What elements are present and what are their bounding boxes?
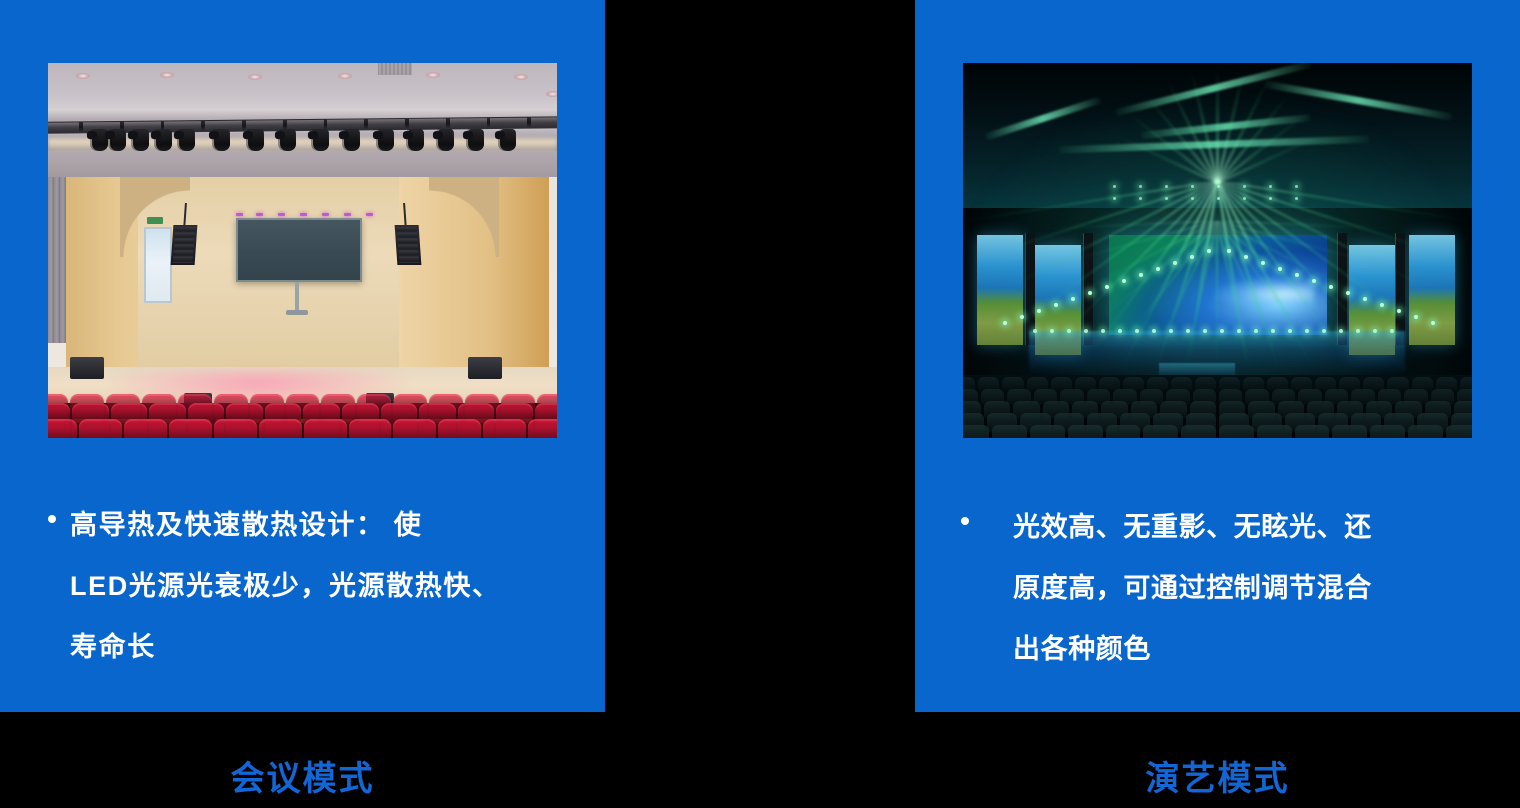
mic-stand <box>295 282 299 312</box>
stage-led-fixture <box>1105 285 1109 289</box>
stage-spotlight <box>344 129 360 151</box>
overhead-led-point <box>1217 197 1220 200</box>
caption-conference-mode: 会议模式 <box>0 750 605 808</box>
concert-scene <box>963 63 1472 438</box>
line-array-speaker-left <box>171 225 198 265</box>
feature-bullet-conference: 高导热及快速散热设计： 使 LED光源光衰极少，光源散热快、 寿命长 <box>48 495 573 678</box>
stage-led-fixture <box>1088 291 1092 295</box>
ceiling-vent <box>378 63 412 75</box>
stage-led-fixture <box>1431 321 1435 325</box>
stage-front-led <box>1288 329 1292 333</box>
stage-led-fixture <box>1156 267 1160 271</box>
stage-spotlight <box>214 129 230 151</box>
stage-spotlight <box>248 129 264 151</box>
stage-led-fixture <box>1139 273 1143 277</box>
stage-front-led <box>1135 329 1139 333</box>
truss-segment <box>531 117 557 127</box>
stage-spotlight <box>156 129 172 151</box>
hall-scene <box>48 63 557 438</box>
slide-root: 高导热及快速散热设计： 使 LED光源光衰极少，光源散热快、 寿命长 <box>0 0 1520 808</box>
ceiling-downlight <box>248 74 262 80</box>
overhead-led-point <box>1139 197 1142 200</box>
wood-curve-right <box>429 177 499 257</box>
stage-front-led <box>1101 329 1105 333</box>
audience-seating <box>48 403 557 438</box>
overhead-led-point <box>1165 185 1168 188</box>
stage-led-fixture <box>1054 303 1058 307</box>
stage-led-fixture <box>1295 273 1299 277</box>
audience-seat <box>1408 425 1443 438</box>
magenta-led-strip <box>236 213 243 216</box>
caption-performance-mode: 演艺模式 <box>915 750 1520 808</box>
stage-front-led <box>1237 329 1241 333</box>
stage-spotlight <box>133 129 149 151</box>
stage-front-led <box>1220 329 1224 333</box>
laser-beam-up <box>1216 69 1219 183</box>
overhead-led-point <box>1243 185 1246 188</box>
stage-led-fixture <box>1227 249 1231 253</box>
stage-front-led <box>1169 329 1173 333</box>
stage-front-led <box>1050 329 1054 333</box>
audience-row <box>963 425 1472 438</box>
stage-front-led <box>1203 329 1207 333</box>
auditorium-hall-photo <box>48 63 557 438</box>
stage-led-fixture <box>1173 261 1177 265</box>
audience-seat <box>1106 425 1141 438</box>
dark-audience-area <box>963 375 1472 438</box>
audience-seat <box>963 425 989 438</box>
theater-seat <box>528 419 557 438</box>
stage-front-led <box>1271 329 1275 333</box>
stage-spotlight <box>280 129 296 151</box>
ceiling-downlight <box>514 74 528 80</box>
truss-strip-right <box>1395 233 1405 345</box>
upper-wall <box>48 151 557 177</box>
stage-front-led <box>1390 329 1394 333</box>
stage-led-fixture <box>1003 321 1007 325</box>
ceiling-downlight <box>76 73 90 79</box>
audience-seat <box>992 425 1027 438</box>
stage-spotlight <box>408 129 424 151</box>
stage-led-fixture <box>1122 279 1126 283</box>
stage-front-led <box>1152 329 1156 333</box>
overhead-led-point <box>1243 197 1246 200</box>
stage-led-fixture <box>1380 303 1384 307</box>
stage-led-fixture <box>1278 267 1282 271</box>
stage-led-fixture <box>1397 309 1401 313</box>
feature-bullet-performance: 光效高、无重影、无眩光、还 原度高，可通过控制调节混合 出各种颜色 <box>961 497 1481 680</box>
stage-front-led <box>1373 329 1377 333</box>
audience-seat <box>1143 425 1178 438</box>
stage-spotlight <box>110 129 126 151</box>
mic-stand-base <box>286 310 308 315</box>
overhead-led-point <box>1217 185 1220 188</box>
bullet-dot-icon <box>961 517 969 525</box>
overhead-led-point <box>1139 185 1142 188</box>
stage-speaker-left <box>70 357 104 379</box>
audience-seat <box>1370 425 1405 438</box>
overhead-led-point <box>1295 185 1298 188</box>
theater-seat <box>483 419 526 438</box>
panel-conference-mode: 高导热及快速散热设计： 使 LED光源光衰极少，光源散热快、 寿命长 <box>0 0 605 712</box>
stage-led-fixture <box>1244 255 1248 259</box>
stage-front-led <box>1322 329 1326 333</box>
stage-led-fixture <box>1037 309 1041 313</box>
stage-spotlight <box>179 129 195 151</box>
theater-seat <box>304 419 347 438</box>
theater-seat <box>169 419 212 438</box>
theater-seat <box>259 419 302 438</box>
stage-led-fixture <box>1329 285 1333 289</box>
audience-seat <box>1295 425 1330 438</box>
audience-seat <box>1181 425 1216 438</box>
stage-spotlight <box>313 129 329 151</box>
audience-seat <box>1257 425 1292 438</box>
magenta-led-strip <box>278 213 285 216</box>
truss-segment <box>409 119 446 129</box>
overhead-led-point <box>1191 185 1194 188</box>
stage-led-fixture <box>1414 315 1418 319</box>
stage-front-led <box>1033 329 1037 333</box>
stage-led-fixture <box>1261 261 1265 265</box>
overhead-led-point <box>1295 197 1298 200</box>
ceiling-downlight <box>426 72 440 78</box>
stage-front-led <box>1254 329 1258 333</box>
seat-row <box>48 419 557 438</box>
theater-seat <box>349 419 392 438</box>
stage-led-fixture <box>1207 249 1211 253</box>
ceiling <box>48 63 557 123</box>
stage-front-led <box>1067 329 1071 333</box>
projection-screen <box>236 218 362 282</box>
ceiling-downlight <box>160 72 174 78</box>
stage-led-fixture <box>1363 297 1367 301</box>
magenta-led-strip <box>256 213 263 216</box>
audience-seat <box>1332 425 1367 438</box>
ceiling-downlight <box>338 73 352 79</box>
stage-led-fixture <box>1346 291 1350 295</box>
stage-spotlight <box>500 129 516 151</box>
overhead-led-point <box>1191 197 1194 200</box>
overhead-led-point <box>1113 185 1116 188</box>
magenta-led-strip <box>322 213 329 216</box>
truss-segment <box>48 122 79 132</box>
magenta-led-strip <box>344 213 351 216</box>
concert-stage-photo <box>963 63 1472 438</box>
theater-seat <box>48 419 77 438</box>
theater-seat <box>214 419 257 438</box>
truss-segment <box>490 118 527 128</box>
stage-front-led <box>1339 329 1343 333</box>
audience-seat <box>1219 425 1254 438</box>
panel-performance-mode: 光效高、无重影、无眩光、还 原度高，可通过控制调节混合 出各种颜色 <box>915 0 1520 712</box>
laser-beam-secondary <box>1216 221 1218 371</box>
magenta-led-strip <box>366 213 373 216</box>
theater-seat <box>79 419 122 438</box>
bullet-dot-icon <box>48 515 56 523</box>
ceiling-downlight <box>546 91 557 97</box>
stage-front-led <box>1084 329 1088 333</box>
line-array-speaker-right <box>395 225 422 265</box>
overhead-led-point <box>1269 197 1272 200</box>
feature-text: 光效高、无重影、无眩光、还 原度高，可通过控制调节混合 出各种颜色 <box>1013 497 1372 680</box>
theater-seat <box>438 419 481 438</box>
truss-segment <box>368 119 405 129</box>
stage-spotlight <box>378 129 394 151</box>
overhead-led-point <box>1165 197 1168 200</box>
overhead-led-point <box>1269 185 1272 188</box>
side-door <box>144 227 172 303</box>
theater-seat <box>124 419 167 438</box>
stage-front-led <box>1186 329 1190 333</box>
audience-seat <box>1446 425 1472 438</box>
magenta-led-strip <box>300 213 307 216</box>
truss-segment <box>450 118 487 128</box>
exit-sign-icon <box>147 217 163 224</box>
stage-led-fixture <box>1071 297 1075 301</box>
stage-spotlight <box>438 129 454 151</box>
overhead-led-point <box>1113 197 1116 200</box>
stage-speaker-right <box>468 357 502 379</box>
stage-led-fixture <box>1190 255 1194 259</box>
audience-seat <box>1068 425 1103 438</box>
stage-front-led <box>1118 329 1122 333</box>
stage-front-led <box>1356 329 1360 333</box>
stage-front-led <box>1305 329 1309 333</box>
stage-spotlight <box>468 129 484 151</box>
audience-seat <box>1030 425 1065 438</box>
feature-text: 高导热及快速散热设计： 使 LED光源光衰极少，光源散热快、 寿命长 <box>70 495 501 678</box>
theater-seat <box>393 419 436 438</box>
stage-led-fixture <box>1020 315 1024 319</box>
stage-led-fixture <box>1312 279 1316 283</box>
